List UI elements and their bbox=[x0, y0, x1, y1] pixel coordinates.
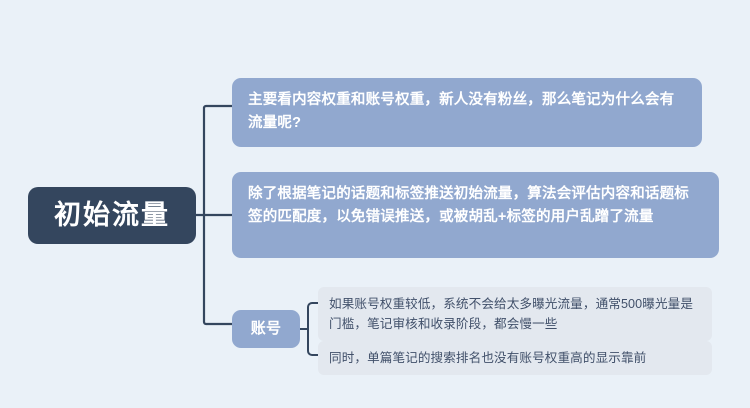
root-node-label: 初始流量 bbox=[54, 201, 170, 231]
leaf-node-account-2-label: 同时，单篇笔记的搜索排名也没有账号权重高的显示靠前 bbox=[329, 351, 646, 365]
branch-node-account[interactable]: 账号 bbox=[232, 310, 300, 348]
root-node[interactable]: 初始流量 bbox=[28, 187, 196, 244]
branch-node-account-label: 账号 bbox=[251, 317, 281, 341]
mindmap-canvas: 初始流量 主要看内容权重和账号权重，新人没有粉丝，那么笔记为什么会有流量呢? 除… bbox=[0, 0, 750, 408]
leaf-node-account-2[interactable]: 同时，单篇笔记的搜索排名也没有账号权重高的显示靠前 bbox=[318, 341, 712, 375]
leaf-node-account-1-label: 如果账号权重较低，系统不会给太多曝光流量，通常500曝光量是门槛，笔记审核和收录… bbox=[329, 297, 693, 331]
branch-node-1-label: 主要看内容权重和账号权重，新人没有粉丝，那么笔记为什么会有流量呢? bbox=[248, 92, 674, 131]
branch-node-2[interactable]: 除了根据笔记的话题和标签推送初始流量，算法会评估内容和话题标签的匹配度，以免错误… bbox=[232, 172, 719, 258]
leaf-node-account-1[interactable]: 如果账号权重较低，系统不会给太多曝光流量，通常500曝光量是门槛，笔记审核和收录… bbox=[318, 287, 712, 341]
branch-node-1[interactable]: 主要看内容权重和账号权重，新人没有粉丝，那么笔记为什么会有流量呢? bbox=[232, 78, 702, 147]
branch-node-2-label: 除了根据笔记的话题和标签推送初始流量，算法会评估内容和话题标签的匹配度，以免错误… bbox=[248, 186, 689, 225]
